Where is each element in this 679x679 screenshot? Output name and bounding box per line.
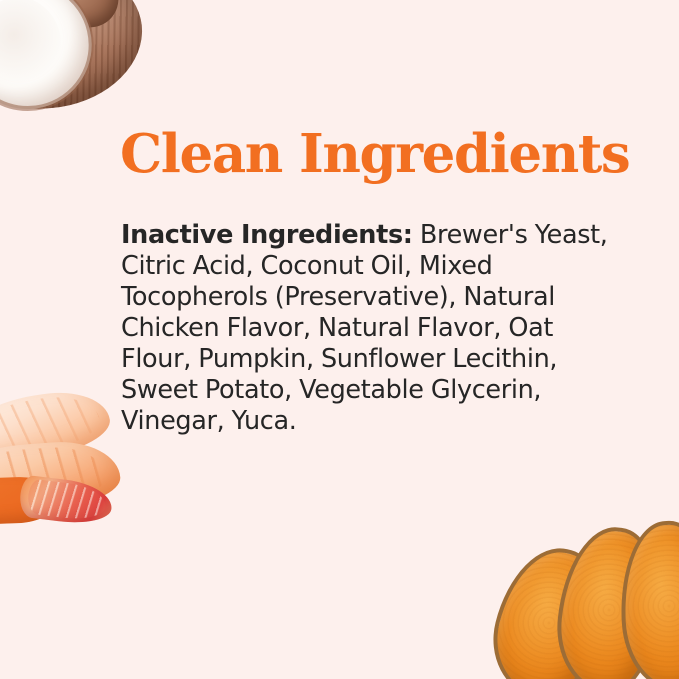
shrimp-lower-body [0,438,122,516]
coconut-flesh [0,0,104,122]
turmeric-slice [480,537,618,679]
turmeric-slice [551,522,668,679]
ingredients-paragraph: Inactive Ingredients: Brewer's Yeast, Ci… [121,220,621,437]
turmeric-slice [617,519,679,679]
shrimp-icon [0,392,138,548]
turmeric-icon [497,521,679,679]
inactive-ingredients-label: Inactive Ingredients: [121,220,413,250]
ingredients-infographic: Clean Ingredients Inactive Ingredients: … [0,0,679,679]
shrimp-upper-body [0,384,114,469]
page-title: Clean Ingredients [120,126,629,182]
inactive-ingredients-list: Brewer's Yeast, Citric Acid, Coconut Oil… [121,220,608,436]
coconut-husk [0,0,156,127]
shrimp-tail-segment [0,476,59,527]
shrimp-tail-fan [18,475,114,528]
coconut-husk-chunk [38,0,121,32]
coconut-rim [0,0,107,124]
